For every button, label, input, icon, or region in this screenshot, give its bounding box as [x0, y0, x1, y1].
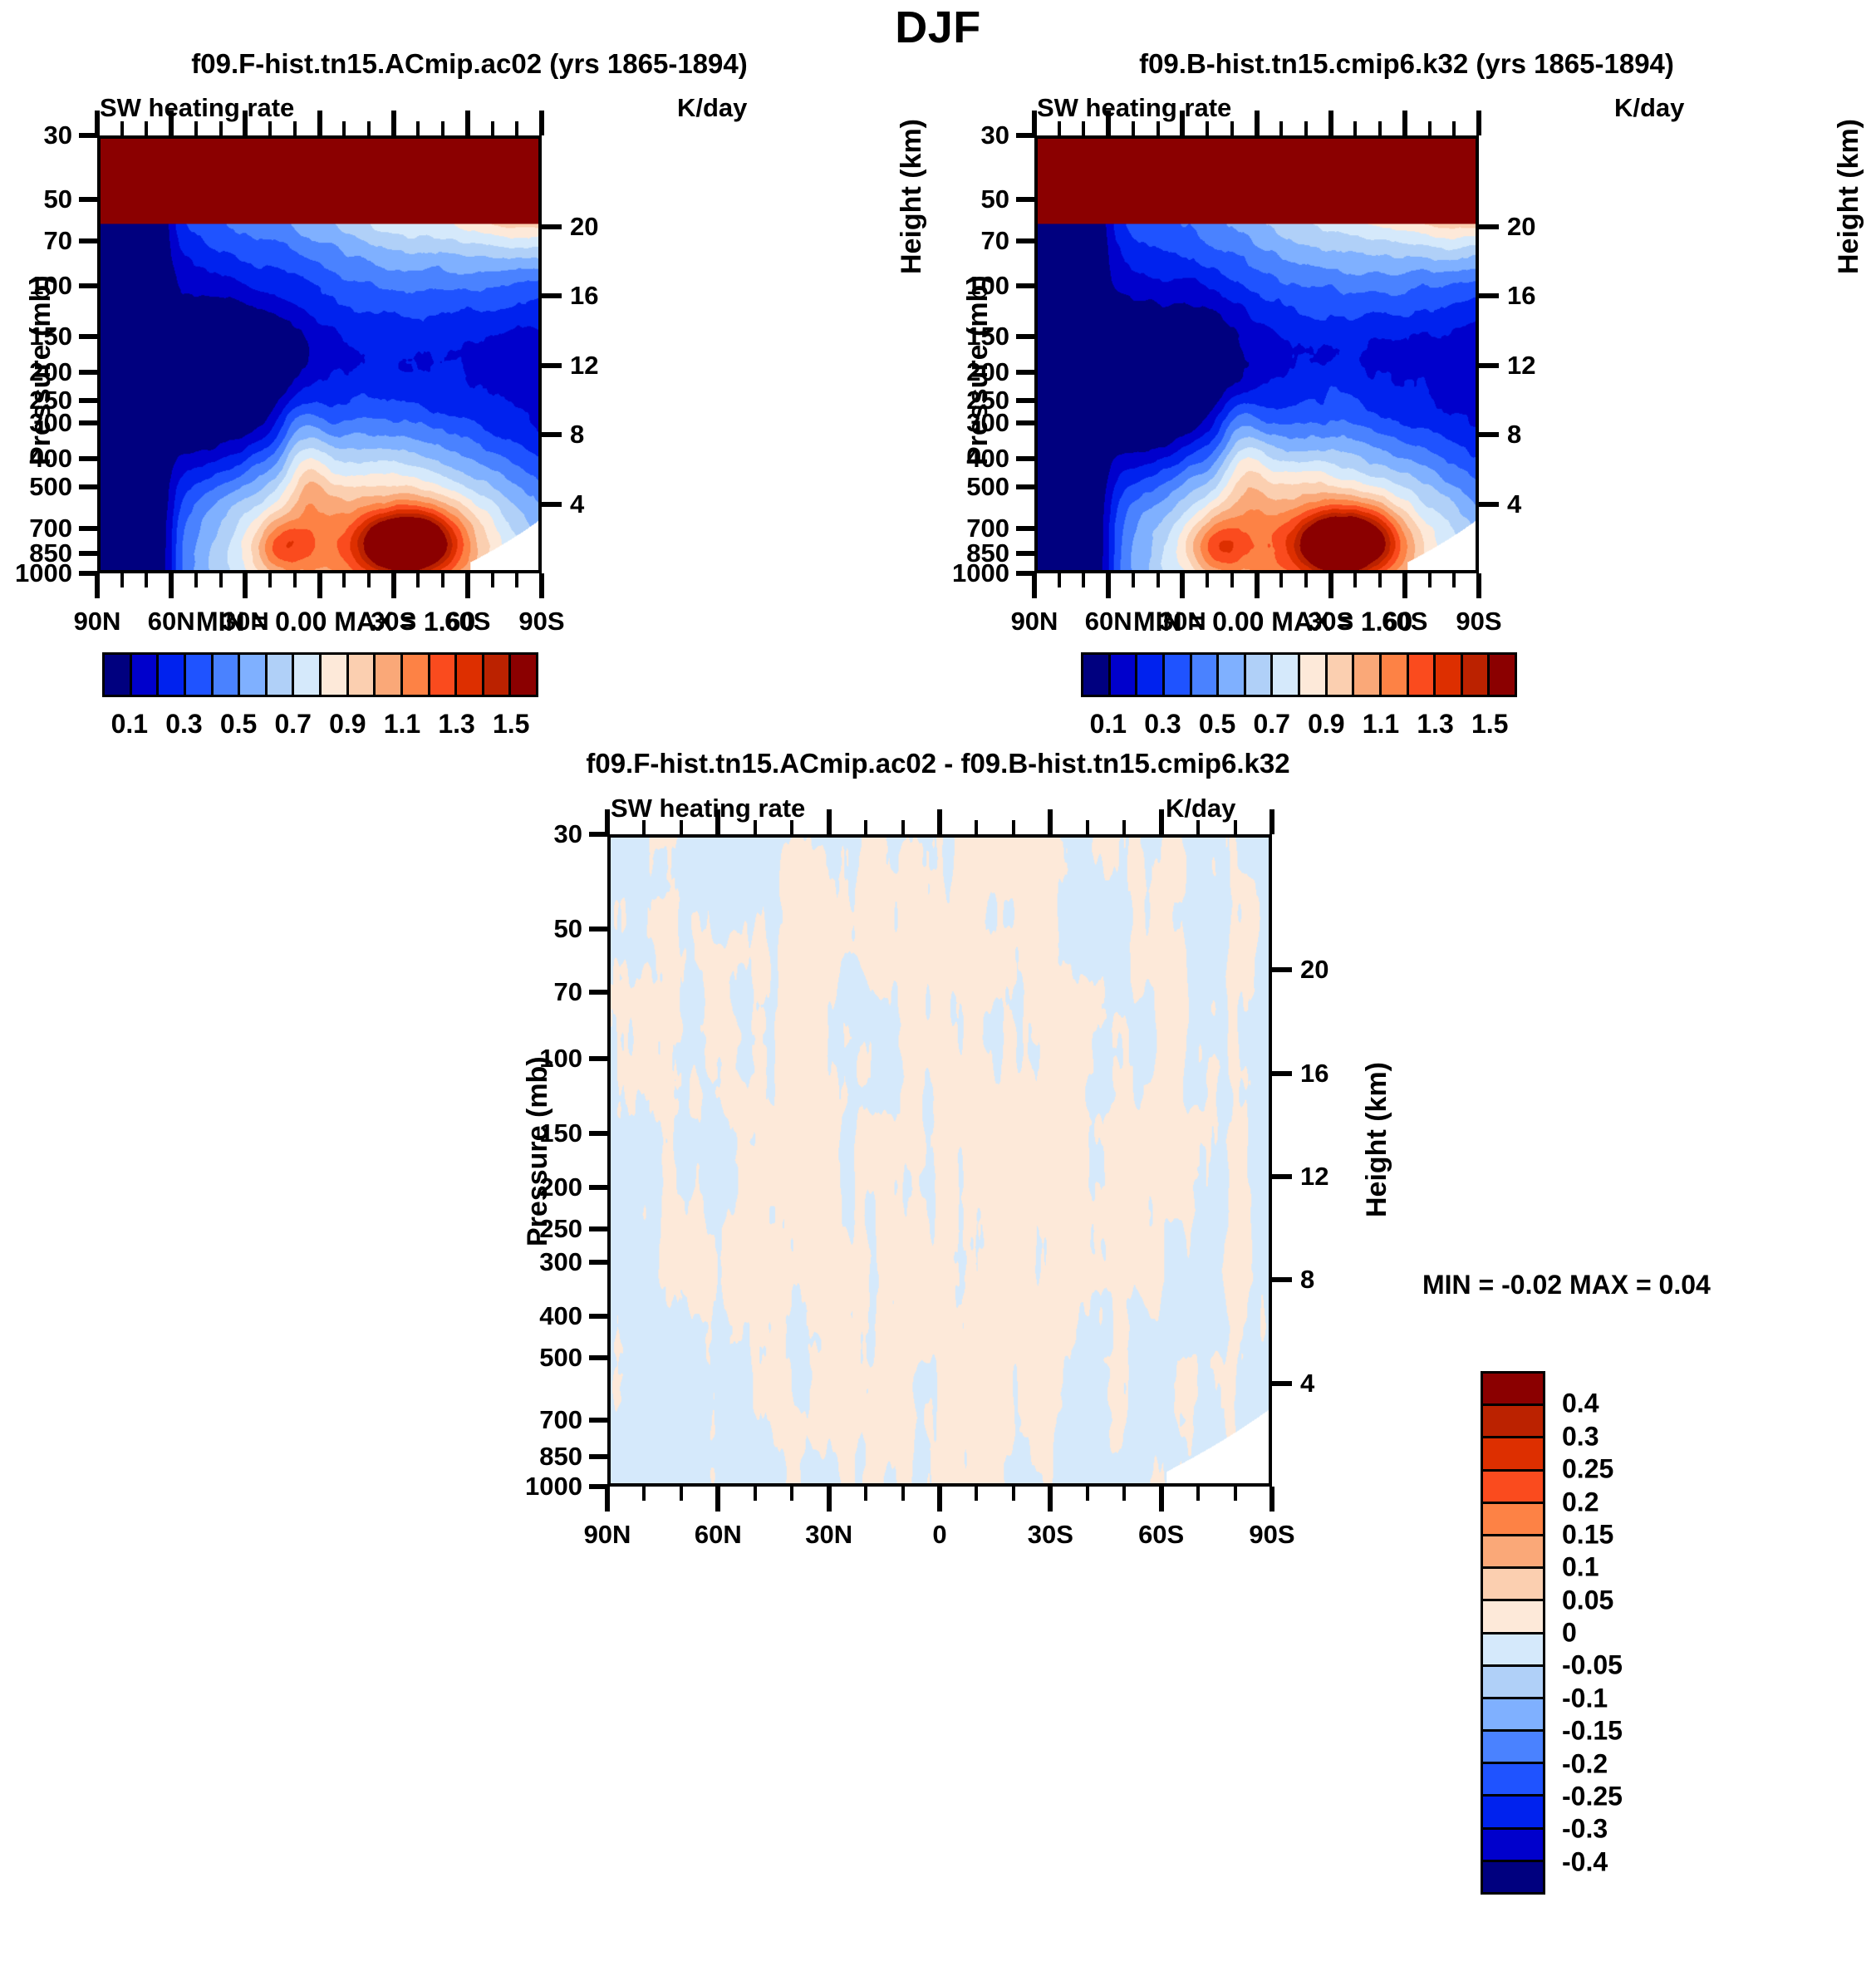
colorbar-swatch[interactable] [1481, 1632, 1545, 1667]
lat-major-tick [465, 573, 470, 598]
height-tick-label: 20 [1300, 955, 1328, 985]
lat-minor-tick [1206, 573, 1209, 587]
pressure-tick [1016, 238, 1034, 243]
lat-major-tick [391, 573, 396, 598]
height-tick [1272, 967, 1292, 972]
height-tick [542, 432, 562, 437]
height-tick-label: 12 [1300, 1162, 1328, 1192]
lat-minor-tick-top [268, 121, 272, 135]
panel-right-colorbar[interactable] [1081, 652, 1517, 697]
lat-minor-tick [441, 573, 444, 587]
lat-major-tick-top [1180, 111, 1185, 135]
lat-major-tick-top [1328, 111, 1333, 135]
pressure-tick-label: 150 [466, 1118, 582, 1148]
pressure-tick-label: 500 [0, 472, 72, 502]
lat-minor-tick-top [1157, 121, 1160, 135]
colorbar-tick-label: 0.9 [1308, 709, 1344, 740]
pressure-tick-label: 250 [466, 1214, 582, 1244]
pressure-tick [1016, 456, 1034, 461]
lat-major-tick [1048, 1487, 1053, 1512]
colorbar-swatch[interactable] [265, 652, 295, 697]
lat-tick-label: 30S [1028, 1520, 1073, 1550]
colorbar-swatch[interactable] [346, 652, 376, 697]
lat-major-tick-top [1402, 111, 1407, 135]
pressure-tick [1016, 526, 1034, 531]
lat-minor-tick-top [120, 121, 124, 135]
colorbar-swatch[interactable] [1325, 652, 1355, 697]
lat-minor-tick [1279, 573, 1283, 587]
colorbar-swatch[interactable] [1481, 1371, 1545, 1406]
lat-major-tick-top [827, 809, 832, 834]
colorbar-swatch[interactable] [1216, 652, 1246, 697]
lat-tick-label: 60N [148, 607, 195, 637]
pressure-tick [589, 1355, 607, 1360]
lat-minor-tick-top [864, 820, 867, 834]
lat-major-tick [827, 1487, 832, 1512]
lat-major-tick [1328, 573, 1333, 598]
pressure-tick [589, 1131, 607, 1136]
colorbar-tick-label: 0.7 [274, 709, 311, 740]
colorbar-swatch[interactable] [1481, 1697, 1545, 1732]
pressure-tick [1016, 283, 1034, 288]
colorbar-tick-label: 0.2 [1562, 1487, 1599, 1517]
pressure-tick-label: 1000 [466, 1472, 582, 1502]
colorbar-swatch[interactable] [1433, 652, 1463, 697]
lat-tick-label: 30N [805, 1520, 852, 1550]
pressure-tick-label: 500 [466, 1343, 582, 1373]
colorbar-swatch[interactable] [482, 652, 512, 697]
pressure-tick-label: 200 [0, 357, 72, 387]
pressure-tick [79, 334, 97, 339]
colorbar-swatch[interactable] [1481, 1436, 1545, 1471]
panel-right-title: f09.B-hist.tn15.cmip6.k32 (yrs 1865-1894… [937, 48, 1876, 80]
colorbar-swatch[interactable] [1481, 1860, 1545, 1895]
pressure-tick-label: 30 [0, 120, 72, 150]
panel-diff-minmax: MIN = -0.02 MAX = 0.04 [1422, 1270, 1711, 1300]
pressure-tick-label: 150 [893, 322, 1009, 351]
lat-major-tick-top [1032, 111, 1037, 135]
pressure-tick-label: 100 [466, 1044, 582, 1074]
colorbar-swatch[interactable] [1481, 1762, 1545, 1797]
lat-major-tick-top [1255, 111, 1260, 135]
pressure-tick-label: 100 [0, 271, 72, 301]
lat-minor-tick-top [1452, 121, 1456, 135]
colorbar-swatch[interactable] [1481, 1403, 1545, 1438]
lat-minor-tick [194, 573, 198, 587]
colorbar-swatch[interactable] [1081, 652, 1111, 697]
lat-tick-label: 90N [74, 607, 121, 637]
lat-minor-tick-top [1206, 121, 1209, 135]
pressure-tick-label: 50 [0, 184, 72, 214]
colorbar-swatch[interactable] [1108, 652, 1138, 697]
lat-minor-tick-top [194, 121, 198, 135]
lat-major-tick [1269, 1487, 1274, 1512]
height-tick [1479, 432, 1499, 437]
colorbar-swatch[interactable] [319, 652, 349, 697]
figure-supertitle: DJF [0, 2, 1876, 53]
lat-major-tick-top [1269, 809, 1274, 834]
lat-tick-label: 60S [1138, 1520, 1184, 1550]
lat-major-tick [1476, 573, 1481, 598]
lat-major-tick-top [391, 111, 396, 135]
pressure-tick [79, 283, 97, 288]
panel-left-plot-area [97, 135, 542, 573]
pressure-tick [79, 551, 97, 556]
colorbar-swatch[interactable] [130, 652, 160, 697]
lat-major-tick [169, 573, 174, 598]
lat-tick-label: 60N [1085, 607, 1132, 637]
lat-minor-tick-top [642, 820, 646, 834]
colorbar-tick-label: 0.9 [329, 709, 366, 740]
lat-minor-tick [367, 573, 371, 587]
lat-major-tick-top [1159, 809, 1164, 834]
pressure-tick-label: 700 [466, 1405, 582, 1435]
colorbar-tick-label: 1.5 [1471, 709, 1508, 740]
colorbar-swatch[interactable] [1481, 1664, 1545, 1699]
height-tick-label: 12 [1507, 351, 1535, 381]
colorbar-tick-label: -0.4 [1562, 1846, 1608, 1877]
colorbar-swatch[interactable] [428, 652, 458, 697]
lat-minor-tick [1234, 1487, 1237, 1501]
colorbar-tick-label: 0.3 [1144, 709, 1181, 740]
lat-major-tick [1159, 1487, 1164, 1512]
lat-minor-tick-top [1428, 121, 1432, 135]
lat-minor-tick [1196, 1487, 1200, 1501]
lat-minor-tick [491, 573, 494, 587]
pressure-tick-label: 500 [893, 472, 1009, 502]
panel-right-subtitle-left: SW heating rate [1037, 93, 1231, 123]
height-tick [1479, 363, 1499, 368]
colorbar-tick-label: -0.3 [1562, 1814, 1608, 1845]
lat-major-tick-top [243, 111, 248, 135]
height-tick-label: 8 [570, 420, 584, 450]
height-tick-label: 4 [570, 489, 584, 519]
colorbar-swatch[interactable] [508, 652, 538, 697]
colorbar-swatch[interactable] [1190, 652, 1220, 697]
lat-minor-tick-top [1230, 121, 1234, 135]
pressure-tick [79, 238, 97, 243]
lat-minor-tick [342, 573, 346, 587]
panel-right-right-ylabel: Height (km) [1833, 119, 1865, 274]
lat-minor-tick [1378, 573, 1382, 587]
colorbar-swatch[interactable] [184, 652, 214, 697]
lat-tick-label: 30S [1308, 607, 1353, 637]
lat-minor-tick-top [901, 820, 905, 834]
height-tick-label: 16 [1507, 281, 1535, 311]
pressure-tick [589, 1314, 607, 1319]
colorbar-swatch[interactable] [1481, 1566, 1545, 1601]
lat-minor-tick [1353, 573, 1357, 587]
lat-minor-tick [1122, 1487, 1126, 1501]
panel-diff-title: f09.F-hist.tn15.ACmip.ac02 - f09.B-hist.… [315, 748, 1561, 779]
panel-diff-subtitle-left: SW heating rate [611, 794, 805, 823]
colorbar-swatch[interactable] [1352, 652, 1382, 697]
colorbar-tick-label: -0.05 [1562, 1650, 1623, 1681]
lat-major-tick [243, 573, 248, 598]
colorbar-tick-label: 0.1 [111, 709, 148, 740]
pressure-tick [79, 420, 97, 425]
lat-major-tick [1255, 573, 1260, 598]
height-tick [542, 502, 562, 507]
colorbar-tick-label: -0.1 [1562, 1683, 1608, 1713]
lat-tick-label: 30N [1159, 607, 1206, 637]
panel-left-contour-canvas [101, 139, 538, 570]
lat-minor-tick [975, 1487, 978, 1501]
pressure-tick [589, 1056, 607, 1061]
lat-minor-tick-top [1086, 820, 1089, 834]
lat-minor-tick-top [416, 121, 420, 135]
pressure-tick [1016, 420, 1034, 425]
colorbar-swatch[interactable] [1481, 1794, 1545, 1829]
colorbar-swatch[interactable] [238, 652, 268, 697]
pressure-tick-label: 50 [466, 914, 582, 944]
lat-minor-tick-top [1132, 121, 1135, 135]
pressure-tick [589, 1226, 607, 1231]
lat-minor-tick [790, 1487, 793, 1501]
height-tick-label: 8 [1300, 1265, 1314, 1295]
lat-major-tick [95, 573, 100, 598]
colorbar-swatch[interactable] [1481, 1599, 1545, 1634]
pressure-tick [1016, 551, 1034, 556]
height-tick-label: 4 [1300, 1369, 1314, 1398]
height-tick-label: 20 [570, 212, 598, 242]
colorbar-swatch[interactable] [1487, 652, 1517, 697]
lat-major-tick [317, 573, 322, 598]
lat-tick-label: 0 [1250, 607, 1264, 637]
panel-diff-right-ylabel: Height (km) [1361, 1062, 1393, 1217]
colorbar-swatch[interactable] [1162, 652, 1192, 697]
lat-major-tick-top [937, 809, 942, 834]
pressure-tick [589, 1418, 607, 1423]
lat-minor-tick [1132, 573, 1135, 587]
lat-minor-tick-top [1234, 820, 1237, 834]
colorbar-tick-label: -0.15 [1562, 1716, 1623, 1747]
lat-tick-label: 30S [371, 607, 416, 637]
pressure-tick [79, 484, 97, 489]
colorbar-tick-label: 0.7 [1253, 709, 1289, 740]
height-tick [1272, 1174, 1292, 1179]
lat-major-tick [715, 1487, 720, 1512]
height-tick [542, 293, 562, 298]
pressure-tick-label: 50 [893, 184, 1009, 214]
lat-minor-tick-top [680, 820, 683, 834]
pressure-tick-label: 70 [0, 226, 72, 256]
colorbar-tick-label: 0.1 [1090, 709, 1127, 740]
lat-minor-tick-top [1304, 121, 1308, 135]
colorbar-swatch[interactable] [373, 652, 403, 697]
lat-major-tick [1106, 573, 1111, 598]
lat-minor-tick-top [1082, 121, 1085, 135]
height-tick-label: 8 [1507, 420, 1521, 450]
lat-minor-tick [293, 573, 297, 587]
height-tick [542, 224, 562, 229]
lat-minor-tick [901, 1487, 905, 1501]
colorbar-tick-label: 0.3 [1562, 1421, 1599, 1452]
lat-minor-tick [268, 573, 272, 587]
height-tick-label: 4 [1507, 489, 1521, 519]
height-tick [1272, 1277, 1292, 1282]
colorbar-tick-label: -0.25 [1562, 1781, 1623, 1811]
colorbar-swatch[interactable] [211, 652, 241, 697]
pressure-tick-label: 30 [893, 120, 1009, 150]
colorbar-swatch[interactable] [1481, 1729, 1545, 1764]
lat-tick-label: 0 [312, 607, 327, 637]
lat-tick-label: 0 [932, 1520, 946, 1550]
lat-tick-label: 90S [1456, 607, 1501, 637]
pressure-tick [1016, 197, 1034, 202]
lat-major-tick-top [605, 809, 610, 834]
lat-minor-tick [1082, 573, 1085, 587]
colorbar-tick-label: 1.3 [438, 709, 474, 740]
lat-minor-tick [1058, 573, 1061, 587]
height-tick [1272, 1071, 1292, 1076]
pressure-tick-label: 400 [0, 444, 72, 474]
lat-minor-tick [680, 1487, 683, 1501]
lat-minor-tick-top [1196, 820, 1200, 834]
colorbar-swatch[interactable] [1135, 652, 1165, 697]
colorbar-tick-label: 0.15 [1562, 1519, 1613, 1550]
height-tick [1479, 293, 1499, 298]
lat-major-tick-top [715, 809, 720, 834]
height-tick [1479, 502, 1499, 507]
pressure-tick-label: 200 [893, 357, 1009, 387]
pressure-tick [1016, 334, 1034, 339]
lat-minor-tick [1304, 573, 1308, 587]
height-tick-label: 20 [1507, 212, 1535, 242]
pressure-tick-label: 1000 [0, 558, 72, 588]
height-tick [542, 363, 562, 368]
pressure-tick-label: 850 [466, 1442, 582, 1472]
colorbar-swatch[interactable] [1461, 652, 1490, 697]
colorbar-swatch[interactable] [1298, 652, 1328, 697]
colorbar-tick-label: 0.05 [1562, 1585, 1613, 1615]
height-tick-label: 12 [570, 351, 598, 381]
lat-minor-tick [1230, 573, 1234, 587]
height-tick [1479, 224, 1499, 229]
lat-minor-tick-top [975, 820, 978, 834]
colorbar-swatch[interactable] [1481, 1502, 1545, 1536]
lat-minor-tick-top [1279, 121, 1283, 135]
lat-major-tick [937, 1487, 942, 1512]
pressure-tick-label: 300 [893, 408, 1009, 438]
lat-minor-tick [864, 1487, 867, 1501]
lat-minor-tick-top [342, 121, 346, 135]
pressure-tick [589, 927, 607, 932]
lat-tick-label: 60S [444, 607, 490, 637]
panel-diff-colorbar[interactable] [1481, 1371, 1545, 1895]
pressure-tick [79, 526, 97, 531]
lat-major-tick-top [317, 111, 322, 135]
colorbar-swatch[interactable] [1244, 652, 1274, 697]
pressure-tick [589, 1260, 607, 1265]
lat-minor-tick-top [1058, 121, 1061, 135]
lat-minor-tick [145, 573, 148, 587]
colorbar-swatch[interactable] [1379, 652, 1409, 697]
lat-tick-label: 90S [518, 607, 564, 637]
colorbar-tick-label: 0.3 [165, 709, 202, 740]
lat-major-tick-top [1048, 809, 1053, 834]
figure-root: DJF f09.F-hist.tn15.ACmip.ac02 (yrs 1865… [0, 0, 1876, 1981]
lat-minor-tick-top [219, 121, 223, 135]
pressure-tick [1016, 398, 1034, 403]
lat-tick-label: 90N [1011, 607, 1058, 637]
lat-minor-tick [1086, 1487, 1089, 1501]
lat-minor-tick-top [367, 121, 371, 135]
pressure-tick-label: 100 [893, 271, 1009, 301]
lat-major-tick-top [539, 111, 544, 135]
pressure-tick [79, 398, 97, 403]
pressure-tick-label: 200 [466, 1172, 582, 1202]
panel-right-subtitle-right: K/day [1614, 93, 1684, 123]
colorbar-swatch[interactable] [1481, 1534, 1545, 1569]
panel-left-colorbar[interactable] [102, 652, 538, 697]
lat-major-tick [1032, 573, 1037, 598]
colorbar-tick-label: 1.5 [493, 709, 529, 740]
lat-tick-label: 30N [222, 607, 269, 637]
panel-diff-subtitle-right: K/day [1166, 794, 1235, 823]
pressure-tick [79, 456, 97, 461]
colorbar-swatch[interactable] [400, 652, 430, 697]
colorbar-swatch[interactable] [292, 652, 322, 697]
lat-minor-tick-top [1378, 121, 1382, 135]
lat-minor-tick [642, 1487, 646, 1501]
lat-minor-tick [1157, 573, 1160, 587]
lat-minor-tick [754, 1487, 757, 1501]
pressure-tick-label: 70 [893, 226, 1009, 256]
lat-minor-tick-top [145, 121, 148, 135]
panel-left-title: f09.F-hist.tn15.ACmip.ac02 (yrs 1865-189… [0, 48, 939, 80]
colorbar-swatch[interactable] [1407, 652, 1436, 697]
colorbar-tick-label: 1.1 [1363, 709, 1399, 740]
lat-minor-tick [219, 573, 223, 587]
lat-minor-tick [120, 573, 124, 587]
lat-major-tick [605, 1487, 610, 1512]
lat-major-tick-top [95, 111, 100, 135]
pressure-tick-label: 300 [466, 1247, 582, 1277]
lat-tick-label: 60N [695, 1520, 742, 1550]
colorbar-swatch[interactable] [1481, 1469, 1545, 1504]
lat-minor-tick [416, 573, 420, 587]
colorbar-tick-label: 1.1 [384, 709, 420, 740]
pressure-tick [589, 1454, 607, 1459]
lat-major-tick [539, 573, 544, 598]
pressure-tick [589, 990, 607, 995]
panel-diff-contour-canvas [611, 838, 1269, 1483]
lat-minor-tick-top [754, 820, 757, 834]
colorbar-tick-label: 0.1 [1562, 1552, 1599, 1583]
colorbar-tick-label: 0.25 [1562, 1454, 1613, 1485]
colorbar-swatch[interactable] [454, 652, 484, 697]
pressure-tick [79, 197, 97, 202]
colorbar-tick-label: 0.4 [1562, 1389, 1599, 1419]
height-tick-label: 16 [1300, 1059, 1328, 1089]
colorbar-swatch[interactable] [1481, 1827, 1545, 1862]
colorbar-swatch[interactable] [102, 652, 132, 697]
pressure-tick-label: 400 [893, 444, 1009, 474]
pressure-tick [1016, 484, 1034, 489]
colorbar-swatch[interactable] [1270, 652, 1300, 697]
lat-minor-tick-top [515, 121, 518, 135]
height-tick-label: 16 [570, 281, 598, 311]
colorbar-swatch[interactable] [156, 652, 186, 697]
lat-tick-label: 90N [584, 1520, 631, 1550]
lat-minor-tick-top [1353, 121, 1357, 135]
colorbar-tick-label: 1.3 [1417, 709, 1453, 740]
colorbar-tick-label: 0.5 [1199, 709, 1235, 740]
lat-minor-tick-top [441, 121, 444, 135]
panel-right-contour-canvas [1038, 139, 1476, 570]
colorbar-tick-label: 0 [1562, 1618, 1577, 1649]
